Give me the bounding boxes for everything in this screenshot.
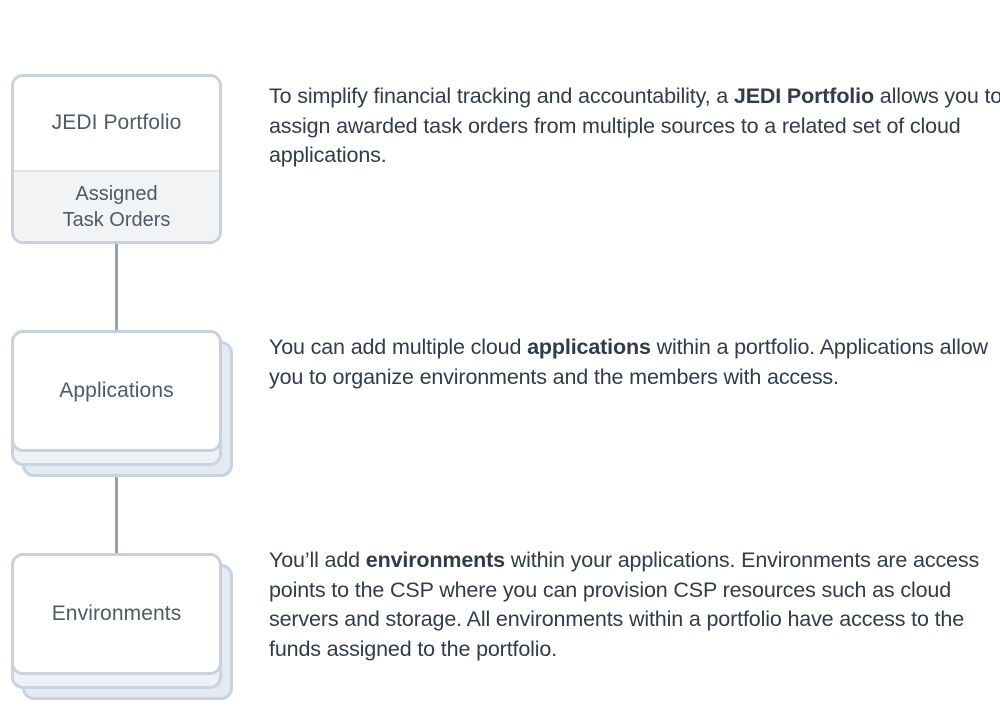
- connector-applications-to-environments: [115, 466, 118, 554]
- card-jedi-portfolio-label: JEDI Portfolio: [14, 77, 219, 170]
- assigned-task-orders-section: Assigned Task Orders: [14, 170, 219, 241]
- connector-portfolio-to-applications: [115, 244, 118, 330]
- card-environments: Environments: [11, 553, 222, 675]
- description-jedi-portfolio: To simplify financial tracking and accou…: [269, 82, 1000, 171]
- card-applications: Applications: [11, 330, 222, 452]
- card-applications-label: Applications: [14, 333, 219, 449]
- portfolio-structure-diagram: JEDI Portfolio Assigned Task Orders Appl…: [0, 0, 1000, 707]
- description-environments: You’ll add environments within your appl…: [269, 546, 1000, 664]
- description-applications: You can add multiple cloud applications …: [269, 333, 1000, 392]
- card-stack-environments: Environments: [0, 542, 240, 702]
- card-stack-applications: Applications: [0, 319, 240, 479]
- card-jedi-portfolio: JEDI Portfolio Assigned Task Orders: [11, 74, 222, 244]
- card-environments-label: Environments: [14, 556, 219, 672]
